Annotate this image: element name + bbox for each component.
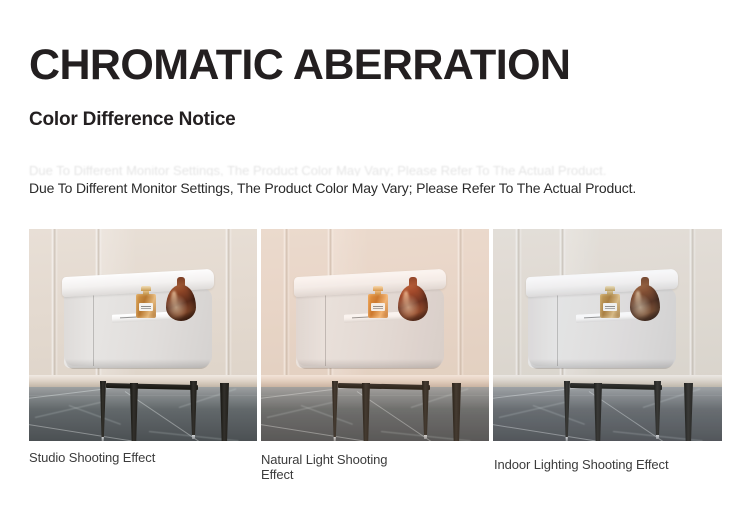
marble-vein [267,401,335,418]
product-photo-indoor-lighting[interactable] [493,229,722,441]
perfume-cap [605,286,615,291]
nightstand [526,273,678,389]
ghost-artifact-text: Due To Different Monitor Settings, The P… [29,166,691,176]
scene-studio [29,229,257,441]
drawer-seam [325,292,326,366]
marble-vein [35,401,103,418]
nightstand-undershadow [66,359,210,369]
photo-caption-indoor-lighting: Indoor Lighting Shooting Effect [494,457,714,472]
photo-caption-natural-light: Natural Light Shooting Effect [261,452,411,482]
page-title: CHROMATIC ABERRATION [29,41,570,89]
decor-perfume-bottle [136,286,156,318]
drawer-seam [557,292,558,366]
vase-highlight [171,291,177,307]
nightstand [62,273,214,389]
nightstand-side-panel [296,290,326,366]
marble-vein [301,405,353,425]
wall-molding-groove [457,229,464,381]
product-image-gallery [29,229,722,441]
perfume-label [139,303,153,311]
scene-indoor-lighting [493,229,722,441]
nightstand-undershadow [530,359,674,369]
photo-caption-studio: Studio Shooting Effect [29,450,169,465]
product-photo-natural-light[interactable] [261,229,489,441]
wall-molding-groove [515,229,522,381]
perfume-cap [141,286,151,291]
decor-perfume-bottle [368,286,388,318]
nightstand [294,273,446,389]
wall-molding-groove [51,229,58,381]
drawer-seam [93,292,94,366]
perfume-label [371,303,385,311]
leg-brace [106,383,198,390]
color-difference-notice: Due To Different Monitor Settings, The P… [29,178,636,198]
scene-natural-light [261,229,489,441]
nightstand-side-panel [528,290,558,366]
marble-vein [69,405,121,425]
wall-molding-groove [283,229,290,381]
page-subtitle: Color Difference Notice [29,108,236,132]
marble-vein [499,401,567,418]
nightstand-side-panel [64,290,94,366]
leg-brace [570,383,662,390]
wall-molding-groove [225,229,232,381]
leg-brace [338,383,430,390]
decor-amber-vase [166,277,196,321]
wall-molding-groove [689,229,696,381]
vase-highlight [403,291,409,307]
decor-perfume-bottle [600,286,620,318]
decor-amber-vase [630,277,660,321]
nightstand-undershadow [298,359,442,369]
marble-vein [533,405,585,425]
perfume-label [603,303,617,311]
perfume-cap [373,286,383,291]
decor-amber-vase [398,277,428,321]
product-photo-studio[interactable] [29,229,257,441]
vase-highlight [635,291,641,307]
